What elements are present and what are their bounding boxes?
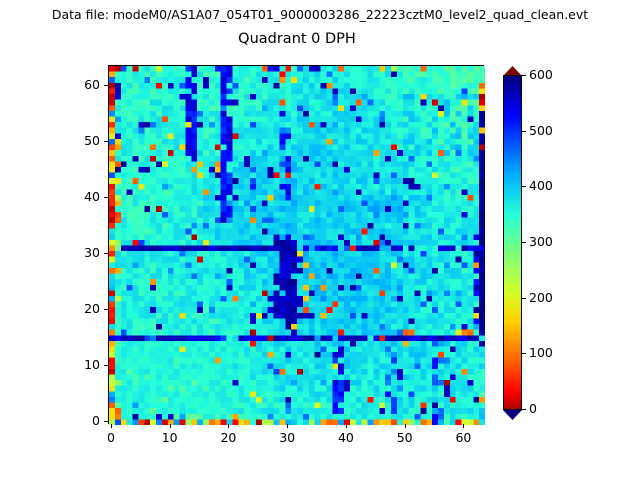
x-tick-mark [463, 424, 464, 428]
colorbar-tick-label: 200 [529, 290, 553, 305]
x-tick-label: 20 [208, 430, 248, 445]
colorbar-tick-label: 600 [529, 67, 553, 82]
colorbar-tick-label: 400 [529, 178, 553, 193]
x-tick-label: 50 [385, 430, 425, 445]
page-title: Quadrant 0 DPH [0, 31, 594, 47]
colorbar-tick-mark [522, 75, 526, 76]
x-tick-mark [228, 424, 229, 428]
x-tick-mark [405, 424, 406, 428]
colorbar-tick-mark [522, 131, 526, 132]
colorbar-tick-mark [522, 298, 526, 299]
y-tick-label: 50 [58, 133, 100, 148]
x-tick-label: 60 [443, 430, 483, 445]
x-tick-label: 30 [267, 430, 307, 445]
y-tick-mark [104, 365, 108, 366]
colorbar-tick-mark [522, 409, 526, 410]
colorbar-tick-mark [522, 242, 526, 243]
colorbar[interactable] [503, 66, 522, 419]
data-file-label: Data file: modeM0/AS1A07_054T01_90000032… [0, 7, 640, 22]
x-tick-mark [170, 424, 171, 428]
heatmap-image [109, 66, 485, 425]
x-tick-label: 40 [326, 430, 366, 445]
x-tick-label: 0 [91, 430, 131, 445]
colorbar-gradient [504, 76, 521, 409]
colorbar-tick-label: 0 [529, 401, 537, 416]
x-tick-mark [111, 424, 112, 428]
colorbar-extend-under-arrow [503, 410, 522, 420]
x-tick-mark [287, 424, 288, 428]
y-tick-mark [104, 141, 108, 142]
x-tick-mark [346, 424, 347, 428]
y-tick-mark [104, 197, 108, 198]
y-tick-mark [104, 421, 108, 422]
colorbar-tick-label: 500 [529, 123, 553, 138]
y-tick-mark [104, 253, 108, 254]
y-tick-label: 40 [58, 189, 100, 204]
colorbar-body [503, 75, 522, 410]
y-tick-label: 60 [58, 77, 100, 92]
colorbar-tick-mark [522, 186, 526, 187]
x-tick-label: 10 [150, 430, 190, 445]
colorbar-tick-label: 100 [529, 345, 553, 360]
y-tick-label: 10 [58, 357, 100, 372]
heatmap-axes[interactable] [108, 65, 484, 424]
colorbar-tick-label: 300 [529, 234, 553, 249]
colorbar-tick-mark [522, 353, 526, 354]
y-tick-mark [104, 85, 108, 86]
y-tick-mark [104, 309, 108, 310]
figure-canvas: Data file: modeM0/AS1A07_054T01_90000032… [0, 0, 640, 480]
y-tick-label: 30 [58, 245, 100, 260]
y-tick-label: 0 [58, 413, 100, 428]
y-tick-label: 20 [58, 301, 100, 316]
